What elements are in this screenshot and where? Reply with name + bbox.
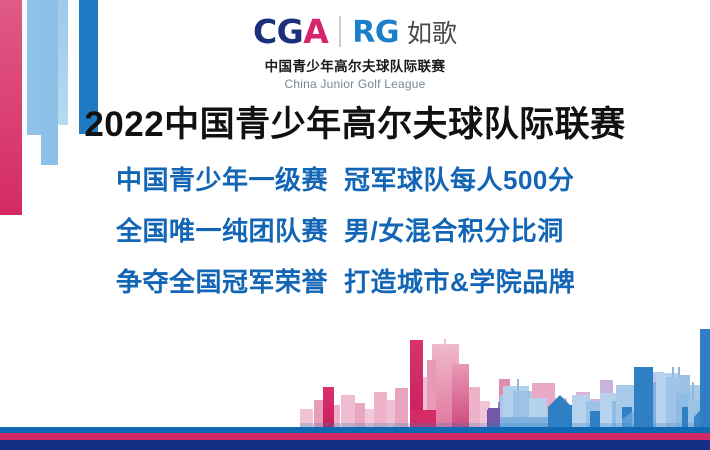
skyline-svg [0, 267, 710, 427]
feature-row-1: 中国青少年一级赛 冠军球队每人500分 [0, 160, 710, 197]
logo-wordmark-row: CGA RG 如歌 [253, 16, 457, 48]
cga-wordmark: CGA [253, 15, 328, 48]
feature-row-1-right: 冠军球队每人500分 [344, 160, 594, 197]
rg-wordmark: RG [352, 18, 399, 48]
feature-row-2-left: 全国唯一纯团队赛 [116, 211, 344, 248]
logo-subtitle-english: China Junior Golf League [0, 77, 710, 91]
ruge-wordmark: 如歌 [407, 22, 457, 47]
bottom-stripe-navy [0, 440, 710, 450]
logo-subtitle-chinese: 中国青少年高尔夫球队际联赛 [0, 55, 710, 75]
cga-wordmark-a: A [303, 12, 328, 51]
logo-lockup: CGA RG 如歌 中国青少年高尔夫球队际联赛 China Junior Gol… [0, 16, 710, 91]
city-skyline-graphic [0, 267, 710, 427]
poster-canvas: CGA RG 如歌 中国青少年高尔夫球队际联赛 China Junior Gol… [0, 0, 710, 450]
bottom-stripe-crimson [0, 433, 710, 440]
cga-wordmark-cg: CG [253, 12, 303, 51]
feature-row-2-right: 男/女混合积分比洞 [344, 211, 594, 248]
logo-divider [339, 16, 341, 47]
page-title: 2022中国青少年高尔夫球队际联赛 [0, 96, 710, 147]
feature-row-1-left: 中国青少年一级赛 [116, 160, 344, 197]
feature-row-2: 全国唯一纯团队赛 男/女混合积分比洞 [0, 211, 710, 248]
